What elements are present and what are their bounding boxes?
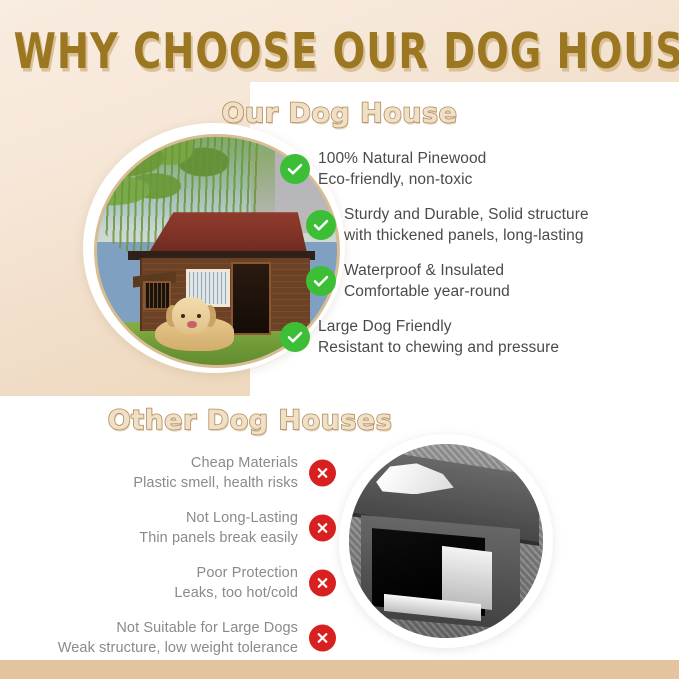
check-icon [306,266,336,296]
check-icon [280,154,310,184]
drawback-line-1: Not Suitable for Large Dogs [116,618,298,638]
page-title: WHY CHOOSE OUR DOG HOUSE?" [14,24,666,80]
cross-icon [309,460,336,487]
benefit-line-1: 100% Natural Pinewood [318,148,672,169]
drawback-line-2: Leaks, too hot/cold [174,583,298,603]
benefit-list: 100% Natural Pinewood Eco-friendly, non-… [272,146,672,370]
benefit-line-2: Eco-friendly, non-toxic [318,169,672,190]
drawback-item: Not Suitable for Large Dogs Weak structu… [20,617,340,659]
other-section-heading: Other Dog Houses [0,405,500,436]
drawback-line-2: Thin panels break easily [139,528,298,548]
infographic-canvas: WHY CHOOSE OUR DOG HOUSE?" Our Dog House [0,0,679,679]
benefit-item: Sturdy and Durable, Solid structure with… [272,202,672,248]
cross-icon [309,515,336,542]
check-icon [306,210,336,240]
other-dog-house-photo [349,444,543,638]
drawback-list: Cheap Materials Plastic smell, health ri… [20,452,340,672]
benefit-line-2: Comfortable year-round [344,281,672,302]
photo-door [231,262,271,334]
dog-head [172,297,210,334]
dog-tongue [187,321,197,329]
drawback-line-1: Not Long-Lasting [186,508,298,528]
cross-icon [309,625,336,652]
check-icon [280,322,310,352]
benefit-item: Large Dog Friendly Resistant to chewing … [272,314,672,360]
benefit-line-1: Large Dog Friendly [318,316,672,337]
drawback-line-1: Cheap Materials [191,453,298,473]
our-section-heading: Our Dog House [0,98,679,129]
drawback-line-2: Weak structure, low weight tolerance [58,638,298,658]
photo-golden-retriever [155,297,234,352]
drawback-item: Poor Protection Leaks, too hot/cold [20,562,340,604]
benefit-line-1: Sturdy and Durable, Solid structure [344,204,672,225]
benefit-line-1: Waterproof & Insulated [344,260,672,281]
drawback-item: Not Long-Lasting Thin panels break easil… [20,507,340,549]
cross-icon [309,570,336,597]
drawback-item: Cheap Materials Plastic smell, health ri… [20,452,340,494]
benefit-line-2: with thickened panels, long-lasting [344,225,672,246]
drawback-line-2: Plastic smell, health risks [133,473,298,493]
benefit-item: Waterproof & Insulated Comfortable year-… [272,258,672,304]
drawback-line-1: Poor Protection [197,563,298,583]
dog-eye-left [181,314,185,318]
benefit-item: 100% Natural Pinewood Eco-friendly, non-… [272,146,672,192]
benefit-line-2: Resistant to chewing and pressure [318,337,672,358]
